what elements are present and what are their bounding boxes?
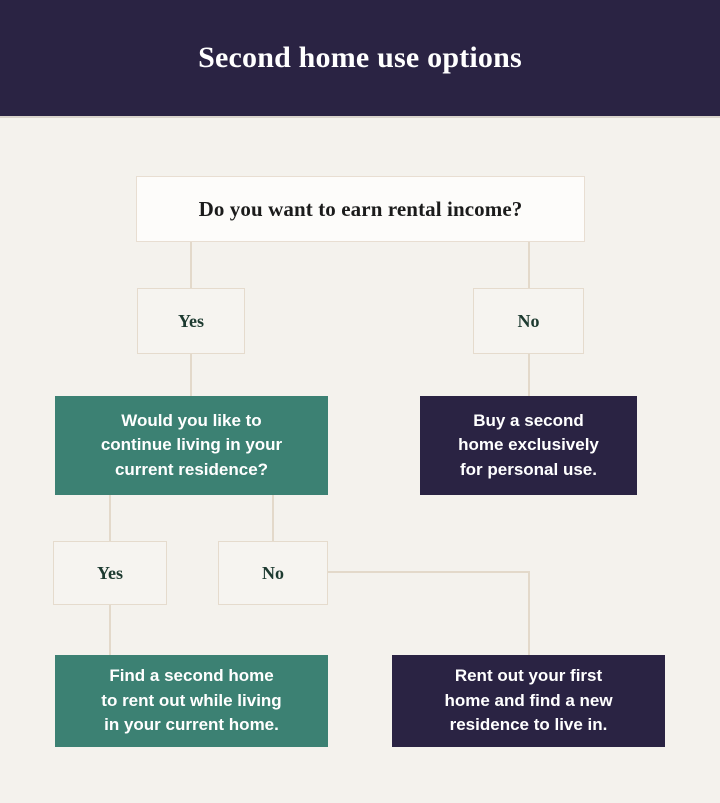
header-divider: [0, 116, 720, 118]
node-label: Yes: [97, 563, 123, 584]
node-label: Buy a second home exclusively for person…: [446, 409, 611, 483]
node-label: No: [518, 311, 540, 332]
flowchart-root: Second home use options Do you want to e…: [0, 0, 720, 803]
node-label: Yes: [178, 311, 204, 332]
node-branch-q2-yes[interactable]: Yes: [53, 541, 167, 605]
node-label: Find a second home to rent out while liv…: [89, 664, 293, 738]
node-label: Do you want to earn rental income?: [199, 197, 523, 222]
node-branch-q2-no[interactable]: No: [218, 541, 328, 605]
node-branch-q1-yes[interactable]: Yes: [137, 288, 245, 354]
node-label: Rent out your first home and find a new …: [432, 664, 624, 738]
node-question-continue-living[interactable]: Would you like to continue living in you…: [55, 396, 328, 495]
edge-no-to-rent-first: [328, 572, 529, 655]
node-outcome-rent-out-second[interactable]: Find a second home to rent out while liv…: [55, 655, 328, 747]
page-title: Second home use options: [0, 0, 720, 116]
node-branch-q1-no[interactable]: No: [473, 288, 584, 354]
node-label: Would you like to continue living in you…: [89, 409, 294, 483]
node-label: No: [262, 563, 284, 584]
header-bar: Second home use options: [0, 0, 720, 116]
node-outcome-personal-use[interactable]: Buy a second home exclusively for person…: [420, 396, 637, 495]
node-question-rental-income[interactable]: Do you want to earn rental income?: [136, 176, 585, 242]
node-outcome-rent-out-first[interactable]: Rent out your first home and find a new …: [392, 655, 665, 747]
